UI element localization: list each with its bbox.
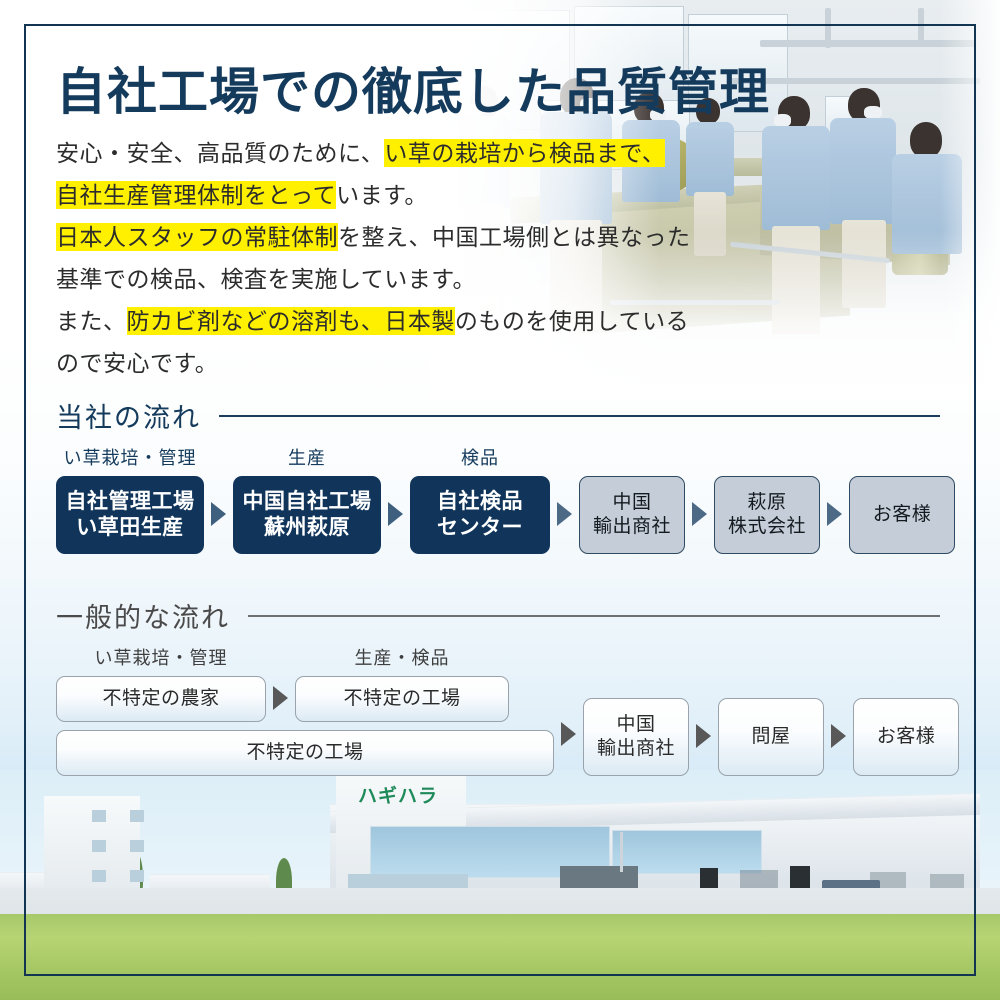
intro-text: のものを使用している — [455, 308, 689, 334]
own-flow-box-2[interactable]: 中国自社工場 蘇州萩原 — [233, 476, 381, 554]
own-flow-caption-3: 検品 — [461, 444, 499, 470]
general-flow-box-exporter[interactable]: 中国 輸出商社 — [583, 698, 689, 776]
intro-line-4: 基準での検品、検査を実施しています。 — [56, 258, 691, 300]
own-flow-box-1[interactable]: 自社管理工場 い草田生産 — [56, 476, 204, 554]
photo-window — [92, 840, 106, 852]
general-flow-box-farm[interactable]: 不特定の農家 — [56, 676, 266, 722]
intro-highlight: 自社生産管理体制をとって — [56, 181, 336, 209]
general-flow-step-factory: 生産・検品 不特定の工場 — [295, 644, 509, 722]
photo-pole — [620, 832, 623, 872]
general-flow-box-wholesaler[interactable]: 問屋 — [718, 698, 824, 776]
general-flow-step-farm: い草栽培・管理 不特定の農家 — [56, 644, 266, 722]
section-rule — [248, 615, 940, 617]
arrow-right-icon — [827, 502, 842, 526]
own-flow-box-6[interactable]: お客様 — [849, 476, 955, 554]
general-flow-step-customer: お客様 — [853, 671, 959, 776]
own-flow-caption-2: 生産 — [288, 444, 326, 470]
building-sign: ハギハラ — [358, 781, 438, 808]
general-flow-top-row: い草栽培・管理 不特定の農家 生産・検品 不特定の工場 — [56, 644, 554, 722]
intro-highlight: い草の栽培から検品まで、 — [384, 139, 665, 167]
own-flow-step-5: 萩原 株式会社 — [714, 449, 820, 554]
photo-ceiling-beam — [918, 8, 924, 44]
section-heading-general-flow: 一般的な流れ — [56, 596, 940, 635]
intro-line-3: 日本人スタッフの常駐体制を整え、中国工場側とは異なった — [56, 216, 691, 258]
own-flow-step-4: 中国 輸出商社 — [579, 449, 685, 554]
photo-window — [130, 810, 144, 822]
photo-window — [92, 810, 106, 822]
own-flow-step-3: 検品 自社検品 センター — [410, 444, 550, 554]
own-flow-box-3[interactable]: 自社検品 センター — [410, 476, 550, 554]
infographic-page: 自社工場での徹底した品質管理 安心・安全、高品質のために、い草の栽培から検品まで… — [0, 0, 1000, 1000]
section-title: 当社の流れ — [56, 396, 201, 435]
intro-line-6: ので安心です。 — [56, 342, 691, 384]
arrow-right-icon — [211, 502, 226, 526]
intro-text: います。 — [336, 182, 428, 208]
own-flow-box-4[interactable]: 中国 輸出商社 — [579, 476, 685, 554]
factory-exterior-photo: ハギハラ — [0, 770, 1000, 1000]
arrow-right-icon — [273, 686, 288, 710]
intro-line-1: 安心・安全、高品質のために、い草の栽培から検品まで、 — [56, 132, 691, 174]
own-flow-step-2: 生産 中国自社工場 蘇州萩原 — [233, 444, 381, 554]
general-flow-caption-left: い草栽培・管理 — [95, 644, 228, 670]
own-flow-diagram: い草栽培・管理 自社管理工場 い草田生産 生産 中国自社工場 蘇州萩原 検品 自… — [56, 444, 955, 554]
intro-highlight: 防カビ剤などの溶剤も、 — [127, 307, 385, 335]
general-flow-box-factory-wide[interactable]: 不特定の工場 — [56, 730, 554, 776]
intro-paragraph: 安心・安全、高品質のために、い草の栽培から検品まで、 自社生産管理体制をとってい… — [56, 132, 691, 384]
section-title: 一般的な流れ — [56, 596, 230, 635]
general-flow-diagram: い草栽培・管理 不特定の農家 生産・検品 不特定の工場 不特定の工場 中国 輸出… — [56, 644, 959, 776]
photo-window — [130, 870, 144, 882]
general-flow-box-customer[interactable]: お客様 — [853, 698, 959, 776]
intro-text: また、 — [56, 308, 127, 334]
section-heading-own-flow: 当社の流れ — [56, 396, 940, 435]
arrow-right-icon — [831, 724, 846, 748]
general-flow-left-group: い草栽培・管理 不特定の農家 生産・検品 不特定の工場 不特定の工場 — [56, 644, 554, 776]
photo-window — [130, 840, 144, 852]
intro-line-5: また、防カビ剤などの溶剤も、日本製のものを使用している — [56, 300, 691, 342]
own-flow-caption-1: い草栽培・管理 — [64, 444, 197, 470]
general-flow-box-factory-top[interactable]: 不特定の工場 — [295, 676, 509, 722]
photo-window — [92, 870, 106, 882]
intro-text: 安心・安全、高品質のために、 — [56, 140, 384, 166]
own-flow-step-6: お客様 — [849, 449, 955, 554]
section-rule — [219, 415, 940, 417]
own-flow-step-1: い草栽培・管理 自社管理工場 い草田生産 — [56, 444, 204, 554]
arrow-right-icon — [557, 502, 572, 526]
intro-highlight: 日本製 — [384, 307, 455, 335]
photo-ceiling-beam — [825, 8, 831, 48]
page-title: 自社工場での徹底した品質管理 — [56, 52, 770, 124]
arrow-right-icon — [561, 722, 576, 746]
intro-text: を整え、中国工場側とは異なった — [338, 224, 691, 250]
general-flow-caption-mid: 生産・検品 — [355, 644, 450, 670]
arrow-right-icon — [696, 724, 711, 748]
photo-fade-right — [940, 0, 1000, 400]
general-flow-step-exporter: 中国 輸出商社 — [583, 671, 689, 776]
arrow-right-icon — [388, 502, 403, 526]
arrow-right-icon — [692, 502, 707, 526]
intro-highlight: 日本人スタッフの常駐体制 — [56, 223, 338, 251]
general-flow-step-wholesaler: 問屋 — [718, 671, 824, 776]
intro-text: 基準での検品、検査を実施しています。 — [56, 266, 476, 292]
photo-lawn — [0, 914, 1000, 1000]
own-flow-box-5[interactable]: 萩原 株式会社 — [714, 476, 820, 554]
intro-line-2: 自社生産管理体制をとっています。 — [56, 174, 691, 216]
intro-text: ので安心です。 — [56, 350, 218, 376]
